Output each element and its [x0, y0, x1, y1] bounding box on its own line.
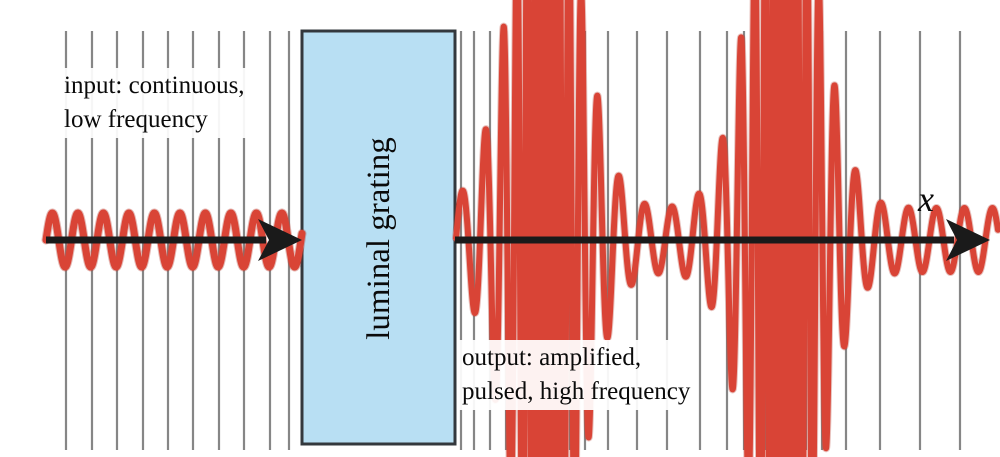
input-caption-line-2: low frequency: [64, 103, 245, 137]
output-caption: output: amplified, pulsed, high frequenc…: [458, 340, 694, 410]
grating-rect: [302, 31, 455, 444]
input-caption-line-1: input: continuous,: [64, 69, 245, 103]
luminal-grating-box: [302, 31, 455, 444]
output-caption-line-1: output: amplified,: [462, 341, 690, 375]
x-axis-label: x: [918, 178, 934, 220]
input-caption: input: continuous, low frequency: [60, 68, 249, 138]
output-caption-line-2: pulsed, high frequency: [462, 375, 690, 409]
figure-canvas: input: continuous, low frequency output:…: [0, 0, 1000, 457]
